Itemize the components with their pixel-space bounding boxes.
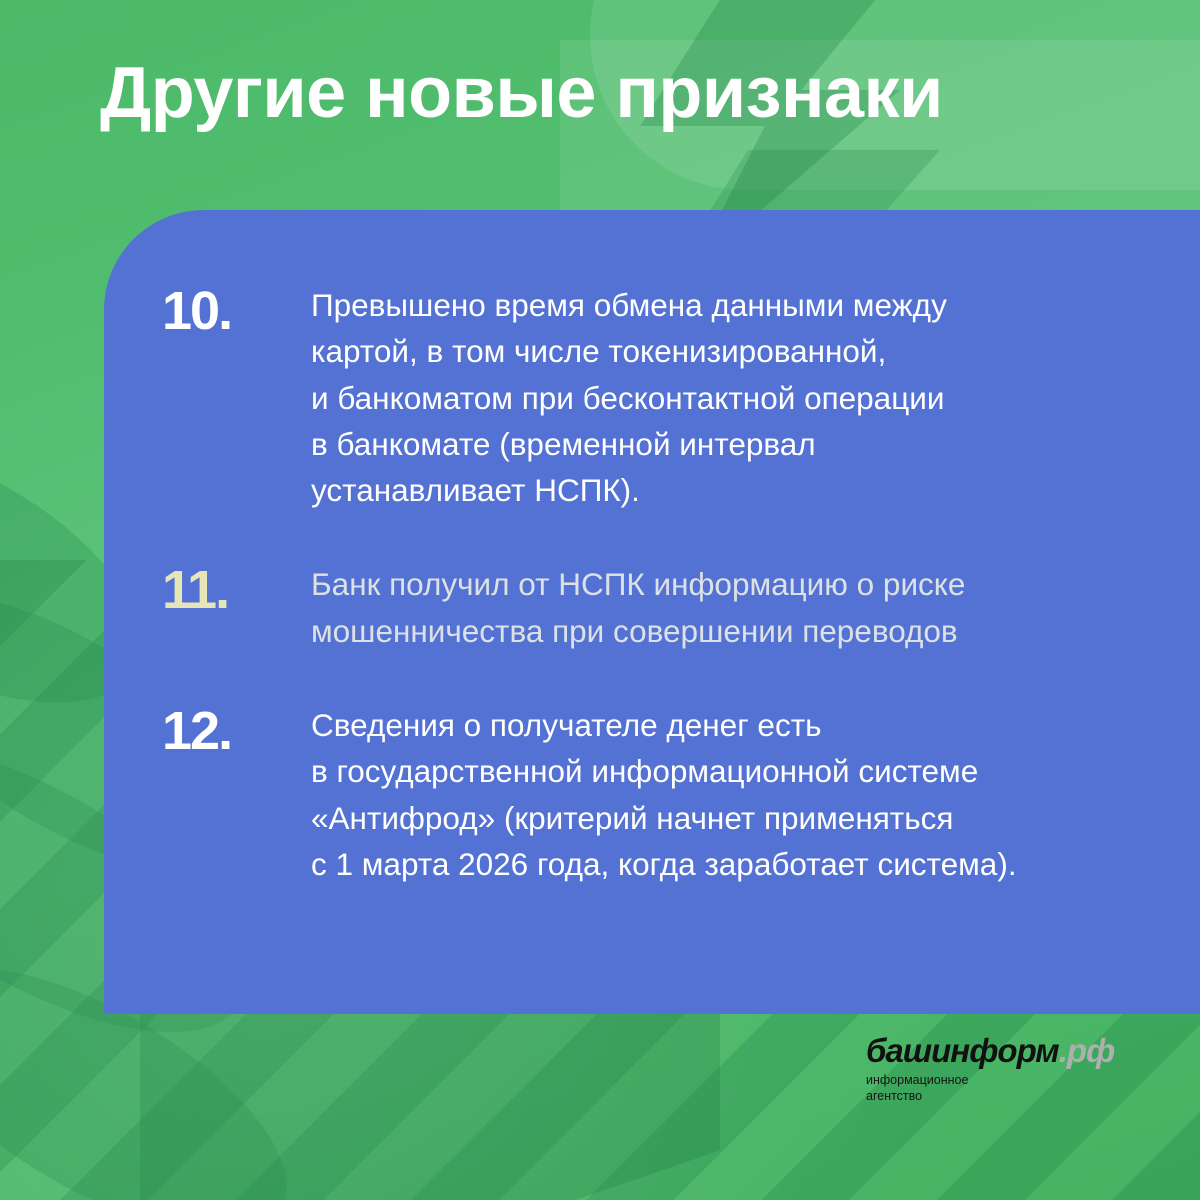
- list-item-number: 12.: [162, 702, 311, 758]
- bashinform-logo[interactable]: башинформ.рф информационное агентство: [866, 1034, 1114, 1104]
- list-item-text: Банк получил от НСПК информацию о риске …: [311, 561, 1162, 654]
- logo-wordmark: башинформ.рф: [866, 1034, 1114, 1067]
- logo-tld: .рф: [1059, 1032, 1115, 1069]
- logo-name: башинформ: [866, 1032, 1059, 1069]
- list-item-number: 11.: [162, 561, 311, 617]
- list-item-text: Превышено время обмена данными между кар…: [311, 282, 1162, 513]
- page-title: Другие новые признаки: [100, 56, 943, 132]
- list-item-number: 10.: [162, 282, 311, 338]
- list-item: 10. Превышено время обмена данными между…: [162, 282, 1162, 513]
- infographic-canvas: Другие новые признаки 10. Превышено врем…: [0, 0, 1200, 1200]
- list-item-text: Сведения о получателе денег есть в госуд…: [311, 702, 1162, 887]
- list-item: 12. Сведения о получателе денег есть в г…: [162, 702, 1162, 887]
- criteria-list: 10. Превышено время обмена данными между…: [162, 282, 1162, 887]
- list-item: 11. Банк получил от НСПК информацию о ри…: [162, 561, 1162, 654]
- logo-tagline: информационное агентство: [866, 1073, 1114, 1104]
